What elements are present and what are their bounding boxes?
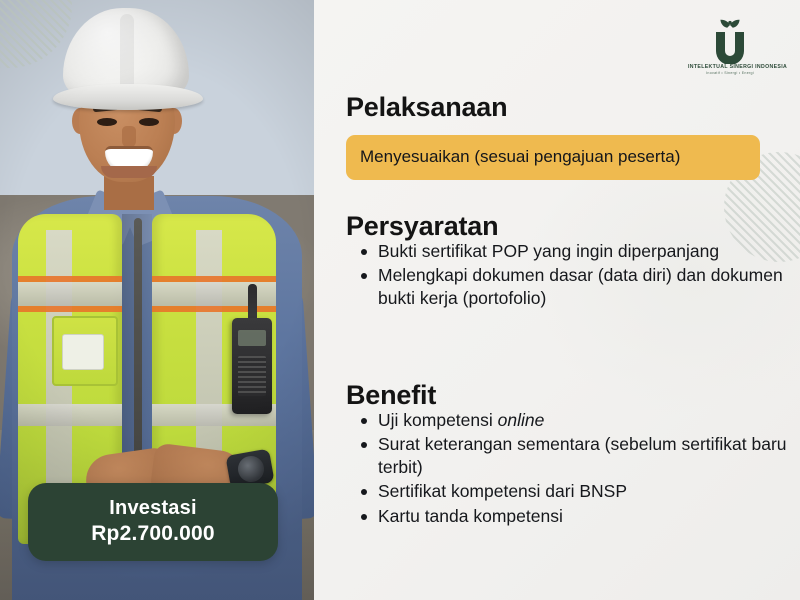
list-item-text: Uji kompetensi	[378, 410, 498, 430]
list-item-emphasis: online	[498, 410, 545, 430]
brand-logo: INTELEKTUAL SINERGI INDONESIA Inovatif •…	[688, 14, 772, 88]
list-item-text: Sertifikat kompetensi dari BNSP	[378, 481, 627, 501]
pelaksanaan-highlight-text: Menyesuaikan (sesuai pengajuan peserta)	[360, 147, 680, 167]
vest-id-badge	[62, 334, 104, 370]
worker-nose	[122, 126, 136, 148]
pelaksanaan-highlight-box: Menyesuaikan (sesuai pengajuan peserta)	[346, 135, 760, 180]
list-item: Melengkapi dokumen dasar (data diri) dan…	[378, 264, 798, 309]
investment-label: Investasi	[109, 496, 196, 521]
section-heading-benefit: Benefit	[346, 380, 436, 411]
vest-orange-trim	[152, 306, 276, 312]
worker-eye-left	[97, 118, 117, 126]
promo-slide: INTELEKTUAL SINERGI INDONESIA Inovatif •…	[0, 0, 800, 600]
list-item-text: Kartu tanda kompetensi	[378, 506, 563, 526]
investment-badge: Investasi Rp2.700.000	[28, 483, 278, 561]
radio-screen	[238, 330, 266, 346]
radio-speaker-grille	[238, 356, 266, 396]
brand-logo-tagline: Inovatif • Sinergi • Energi	[688, 71, 772, 75]
section-heading-pelaksanaan: Pelaksanaan	[346, 92, 507, 123]
list-item: Surat keterangan sementara (sebelum sert…	[378, 433, 798, 478]
investment-amount: Rp2.700.000	[91, 521, 215, 547]
content-panel: INTELEKTUAL SINERGI INDONESIA Inovatif •…	[314, 0, 800, 600]
worker-lower-lip	[101, 166, 157, 178]
section-heading-persyaratan: Persyaratan	[346, 211, 498, 242]
list-item-text: Surat keterangan sementara (sebelum sert…	[378, 434, 787, 476]
list-item: Uji kompetensi online	[378, 409, 798, 431]
worker-eye-right	[139, 118, 159, 126]
benefit-list: Uji kompetensi online Surat keterangan s…	[348, 409, 798, 529]
leaf-monogram-logo-icon	[704, 14, 756, 64]
persyaratan-list: Bukti sertifikat POP yang ingin diperpan…	[348, 240, 798, 311]
vest-reflective-stripe	[18, 404, 122, 426]
list-item: Bukti sertifikat POP yang ingin diperpan…	[378, 240, 798, 262]
vest-reflective-stripe	[18, 282, 122, 306]
hard-hat-brim	[53, 84, 203, 110]
list-item: Kartu tanda kompetensi	[378, 505, 798, 527]
list-item: Sertifikat kompetensi dari BNSP	[378, 480, 798, 502]
vest-reflective-stripe	[152, 282, 276, 306]
vest-orange-trim	[18, 306, 122, 312]
